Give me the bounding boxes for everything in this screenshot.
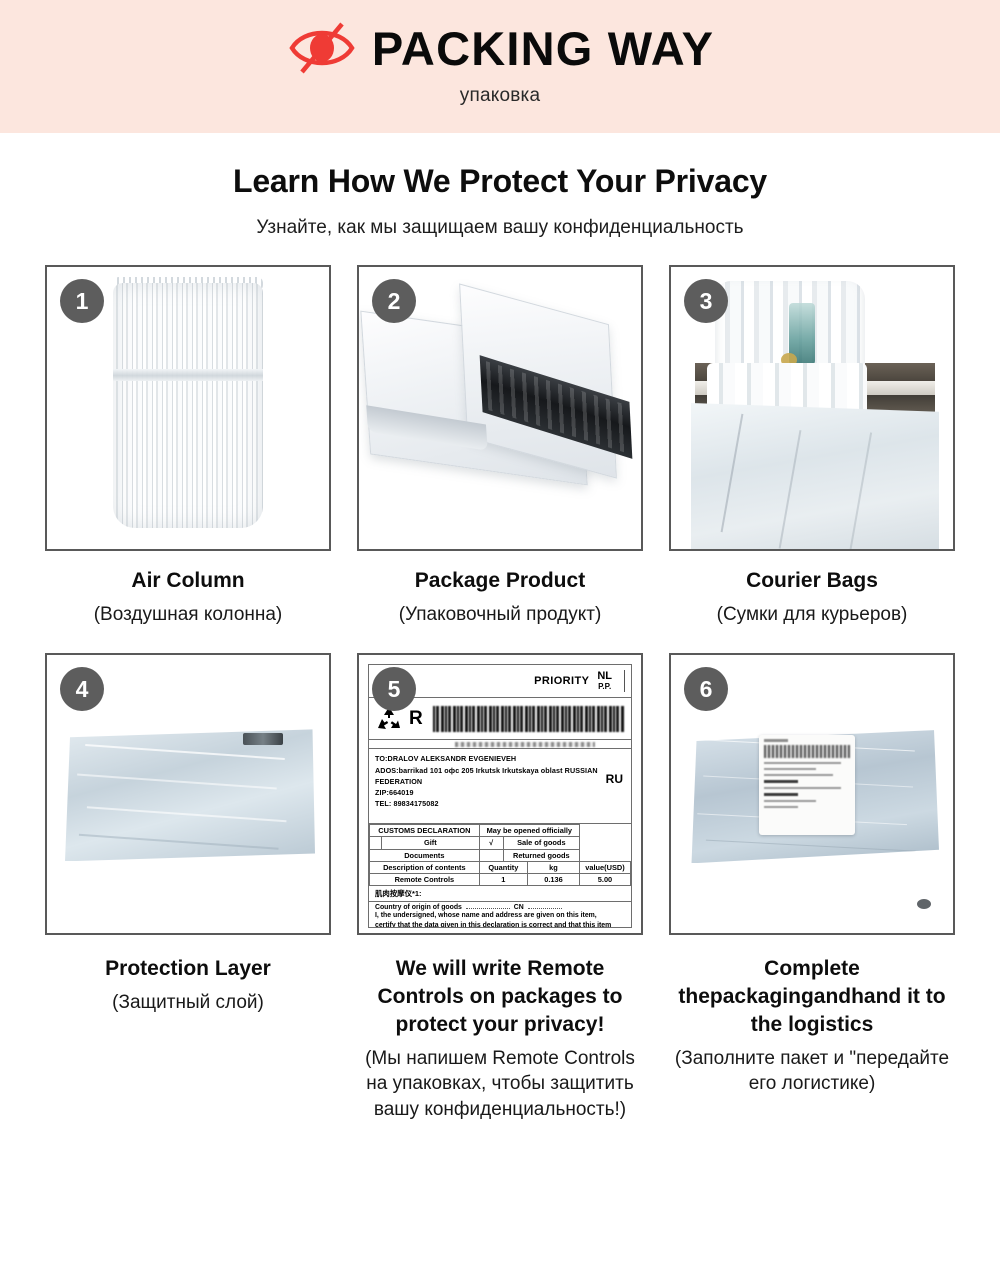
- step-badge-1: 1: [60, 279, 104, 323]
- steps-row-2: 4 Protection Layer (Защитный слой) PRIOR…: [0, 653, 1000, 1122]
- step-title-ru-6: (Заполните пакет и "передайте его логист…: [664, 1046, 960, 1097]
- label-barcode-number: [455, 742, 595, 747]
- step-card-6: 6 Complete thepackaginga: [658, 653, 966, 1122]
- customs-sale-of-goods-label: Sale of goods: [503, 837, 579, 849]
- label-text-smudge-2: [764, 768, 816, 770]
- label-origin-label: Country of origin of goods: [375, 904, 462, 911]
- step-card-5: PRIORITY NL P.P. R: [346, 653, 654, 1122]
- customs-cn-note: 肌肉按摩仪*1:: [369, 886, 631, 902]
- step-caption-4: Protection Layer (Защитный слой): [99, 935, 277, 1015]
- customs-row-kg: 0.136: [527, 874, 579, 886]
- step-caption-5: We will write Remote Controls on package…: [346, 935, 654, 1122]
- step-title-ru-5: (Мы напишем Remote Controls на упаковках…: [352, 1046, 648, 1123]
- step-card-3: 3 Courier Bags (Сумки для курьеров): [658, 265, 966, 627]
- customs-col-quantity: Quantity: [479, 861, 527, 873]
- step-image-frame-1: 1: [45, 265, 331, 551]
- label-origin-dots-left: [466, 908, 510, 909]
- label-barcode: [433, 706, 625, 732]
- step-caption-3: Courier Bags (Сумки для курьеров): [711, 551, 914, 627]
- page-subtitle: Узнайте, как мы защищаем вашу конфиденци…: [0, 217, 1000, 239]
- label-text-smudge-3: [764, 774, 833, 776]
- customs-column-headers: Description of contents Quantity kg valu…: [370, 861, 631, 873]
- customs-data-row: Remote Controls 1 0.136 5.00: [370, 874, 631, 886]
- customs-header-right: May be opened officially: [479, 825, 579, 837]
- label-address-line-4: ZIP:664019: [375, 787, 625, 798]
- customs-gift-label: Gift: [382, 837, 480, 849]
- step-title-en-3: Courier Bags: [717, 567, 908, 595]
- brand-subtitle: упаковка: [460, 85, 540, 107]
- customs-gift-checkbox[interactable]: [370, 837, 382, 849]
- customs-col-kg: kg: [527, 861, 579, 873]
- step-title-en-4: Protection Layer: [105, 955, 271, 983]
- step-card-4: 4 Protection Layer (Защитный слой): [34, 653, 342, 1122]
- customs-documents-label: Documents: [370, 849, 480, 861]
- label-recycle-mark: R: [409, 708, 423, 730]
- customs-declaration-table: CUSTOMS DECLARATION May be opened offici…: [369, 824, 631, 886]
- step-title-en-6: Complete thepackagingandhand it to the l…: [664, 955, 960, 1038]
- label-legal-block: Country of origin of goods CN I, the und…: [369, 902, 631, 928]
- air-column-body: [113, 283, 263, 528]
- site-header: PACKING WAY упаковка: [0, 0, 1000, 133]
- customs-row-gift: Gift √ Sale of goods: [370, 837, 631, 849]
- label-text-smudge-7: [764, 800, 816, 802]
- step-title-ru-1: (Воздушная колонна): [94, 602, 283, 628]
- step-card-2: 2 Package Product (Упаковочный продукт): [346, 265, 654, 627]
- steps-row-1: 1 Air Column (Воздушная колонна) 2 Packa…: [0, 265, 1000, 627]
- label-address-line-5: TEL: 89834175082: [375, 798, 625, 809]
- label-divider-tick: [624, 670, 625, 692]
- protection-bag-body: [65, 729, 315, 861]
- label-legal-line-1: I, the undersigned, whose name and addre…: [375, 911, 625, 921]
- protection-bag-seam: [243, 733, 283, 745]
- step-image-frame-2: 2: [357, 265, 643, 551]
- customs-row-documents: Documents Returned goods: [370, 849, 631, 861]
- customs-col-description: Description of contents: [370, 861, 480, 873]
- page-title: Learn How We Protect Your Privacy: [0, 163, 1000, 200]
- step-image-frame-3: 3: [669, 265, 955, 551]
- label-logo-smudge: [764, 739, 788, 742]
- label-text-smudge-8: [764, 806, 798, 808]
- label-text-smudge-5: [764, 787, 841, 789]
- customs-row-description: Remote Controls: [370, 874, 480, 886]
- step-image-frame-5: PRIORITY NL P.P. R: [357, 653, 643, 935]
- customs-row-value: 5.00: [579, 874, 630, 886]
- brand-name: PACKING WAY: [372, 25, 714, 72]
- label-address-block: TO:DRALOV ALEKSANDR EVGENIEVEH ADOS:barr…: [369, 749, 631, 824]
- eye-off-icon: [286, 20, 358, 76]
- label-origin-dots-right: [528, 908, 562, 909]
- step-title-ru-4: (Защитный слой): [105, 990, 271, 1016]
- step-card-1: 1 Air Column (Воздушная колонна): [34, 265, 342, 627]
- step-title-en-5: We will write Remote Controls on package…: [352, 955, 648, 1038]
- customs-row-quantity: 1: [479, 874, 527, 886]
- step-badge-3: 3: [684, 279, 728, 323]
- label-origin-row: Country of origin of goods CN: [375, 904, 625, 911]
- customs-col-value: value(USD): [579, 861, 630, 873]
- step-image-frame-6: 6: [669, 653, 955, 935]
- label-address-line-1: TO:DRALOV ALEKSANDR EVGENIEVEH: [375, 753, 625, 764]
- step-title-ru-2: (Упаковочный продукт): [399, 602, 602, 628]
- step-caption-2: Package Product (Упаковочный продукт): [393, 551, 608, 627]
- label-barcode-number-row: [369, 740, 631, 749]
- attached-shipping-label: [759, 735, 855, 835]
- label-pp-text: P.P.: [597, 683, 612, 691]
- step-title-en-2: Package Product: [399, 567, 602, 595]
- label-barcode-smudge: [764, 745, 850, 758]
- customs-gift-tick: √: [479, 837, 503, 849]
- step-title-ru-3: (Сумки для курьеров): [717, 602, 908, 628]
- label-priority-text: PRIORITY: [534, 675, 589, 687]
- sealed-bag-vent: [917, 899, 931, 909]
- step-title-en-1: Air Column: [94, 567, 283, 595]
- customs-header-left: CUSTOMS DECLARATION: [370, 825, 480, 837]
- label-text-smudge-6: [764, 793, 798, 796]
- label-legal-line-2: certify that the data given in this decl…: [375, 921, 625, 928]
- label-text-smudge-1: [764, 762, 841, 764]
- label-text-smudge-4: [764, 780, 798, 783]
- step-caption-1: Air Column (Воздушная колонна): [88, 551, 289, 627]
- customs-header-row: CUSTOMS DECLARATION May be opened offici…: [370, 825, 631, 837]
- step-badge-2: 2: [372, 279, 416, 323]
- step-image-frame-4: 4: [45, 653, 331, 935]
- brand-row: PACKING WAY: [286, 17, 714, 79]
- courier-bag-front-panel: [691, 403, 939, 549]
- label-address-line-3: FEDERATION: [375, 776, 625, 787]
- customs-returned-goods-label: Returned goods: [503, 849, 579, 861]
- label-origin-value: CN: [514, 904, 524, 911]
- customs-documents-spacer: [479, 849, 503, 861]
- label-country-block: NL P.P.: [597, 671, 612, 691]
- label-address-line-2: ADOS:barrikad 101 офс 205 Irkutsk Irkuts…: [375, 765, 625, 776]
- step-caption-6: Complete thepackagingandhand it to the l…: [658, 935, 966, 1096]
- label-destination-code: RU: [606, 772, 623, 786]
